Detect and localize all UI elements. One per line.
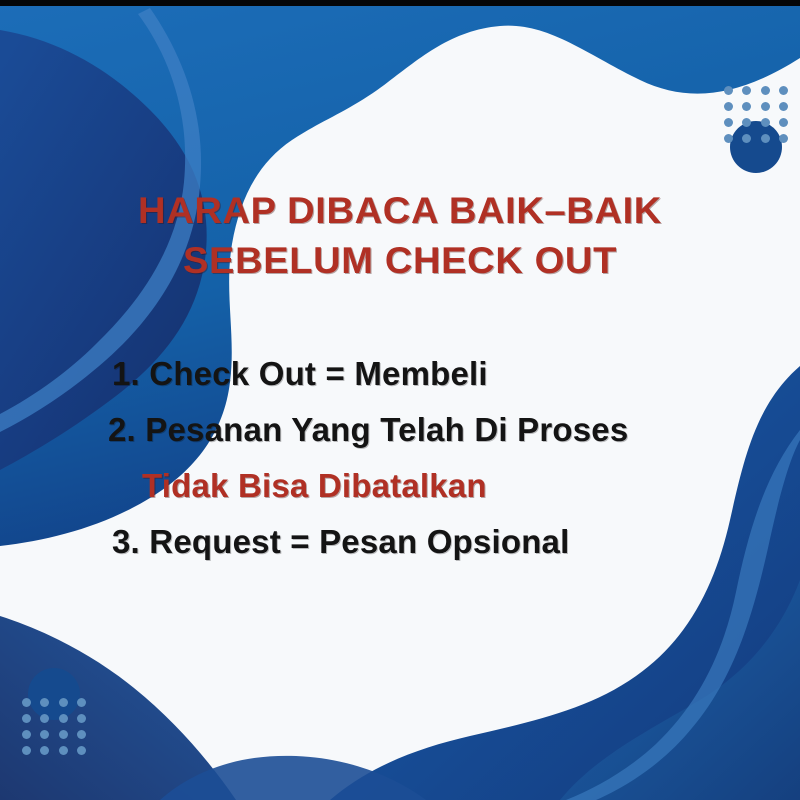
poster-rules-list: 1. Check Out = Membeli 2. Pesanan Yang T… [0, 346, 800, 570]
rule-item-2-emphasis: Tidak Bisa Dibatalkan [0, 458, 800, 514]
poster-heading: HARAP DIBACA BAIK–BAIK SEBELUM CHECK OUT [0, 186, 800, 286]
heading-line-2: SEBELUM CHECK OUT [0, 236, 800, 286]
poster-content: HARAP DIBACA BAIK–BAIK SEBELUM CHECK OUT… [0, 0, 800, 800]
rule-item-3: 3. Request = Pesan Opsional [0, 514, 800, 570]
promo-poster: HARAP DIBACA BAIK–BAIK SEBELUM CHECK OUT… [0, 0, 800, 800]
heading-line-1: HARAP DIBACA BAIK–BAIK [0, 186, 800, 236]
rule-item-1: 1. Check Out = Membeli [0, 346, 800, 402]
rule-item-2: 2. Pesanan Yang Telah Di Proses [0, 402, 800, 458]
